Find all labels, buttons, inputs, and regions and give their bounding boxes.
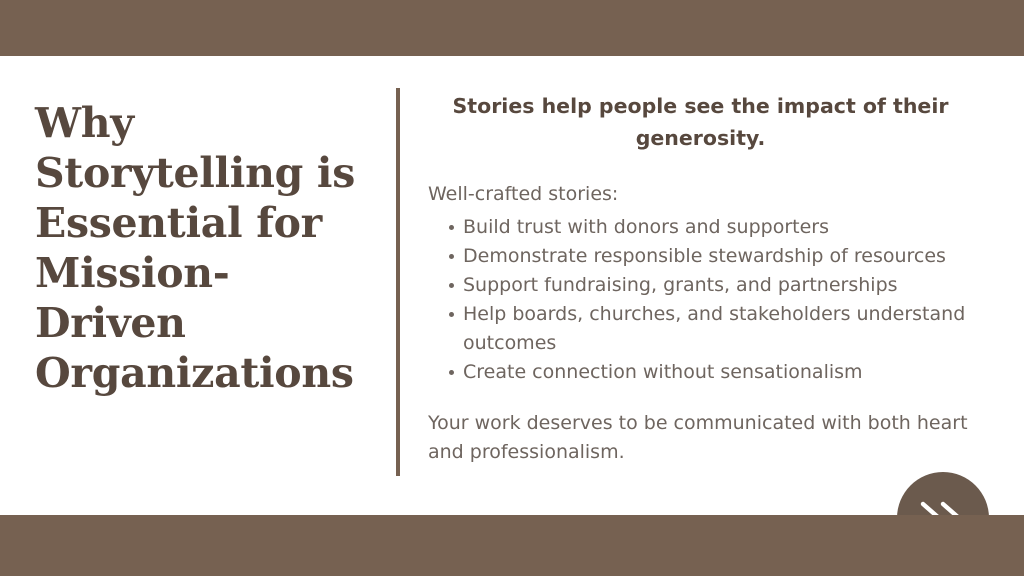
- bullet-dot-icon: [449, 312, 454, 317]
- list-item: Demonstrate responsible stewardship of r…: [428, 242, 973, 271]
- content-heading: Stories help people see the impact of th…: [428, 90, 973, 154]
- bullet-dot-icon: [449, 254, 454, 259]
- list-item-label: Build trust with donors and supporters: [463, 216, 829, 238]
- list-item-label: Support fundraising, grants, and partner…: [463, 274, 898, 296]
- content-column: Stories help people see the impact of th…: [428, 90, 973, 467]
- bullet-dot-icon: [449, 225, 454, 230]
- closing-statement: Your work deserves to be communicated wi…: [428, 409, 973, 467]
- list-item-label: Demonstrate responsible stewardship of r…: [463, 245, 946, 267]
- slide-canvas: Why Storytelling is Essential for Missio…: [0, 0, 1024, 576]
- vertical-divider: [396, 88, 400, 476]
- title-column: Why Storytelling is Essential for Missio…: [35, 98, 365, 398]
- lead-in-text: Well-crafted stories:: [428, 180, 973, 209]
- bullet-dot-icon: [449, 370, 454, 375]
- list-item: Support fundraising, grants, and partner…: [428, 271, 973, 300]
- bullet-dot-icon: [449, 283, 454, 288]
- list-item: Help boards, churches, and stakeholders …: [428, 300, 973, 358]
- list-item-label: Help boards, churches, and stakeholders …: [463, 303, 965, 354]
- benefits-list: Build trust with donors and supporters D…: [428, 213, 973, 387]
- list-item: Build trust with donors and supporters: [428, 213, 973, 242]
- list-item: Create connection without sensationalism: [428, 358, 973, 387]
- top-accent-bar: [0, 0, 1024, 56]
- bottom-accent-bar: [0, 515, 1024, 576]
- page-title: Why Storytelling is Essential for Missio…: [35, 98, 365, 398]
- list-item-label: Create connection without sensationalism: [463, 361, 863, 383]
